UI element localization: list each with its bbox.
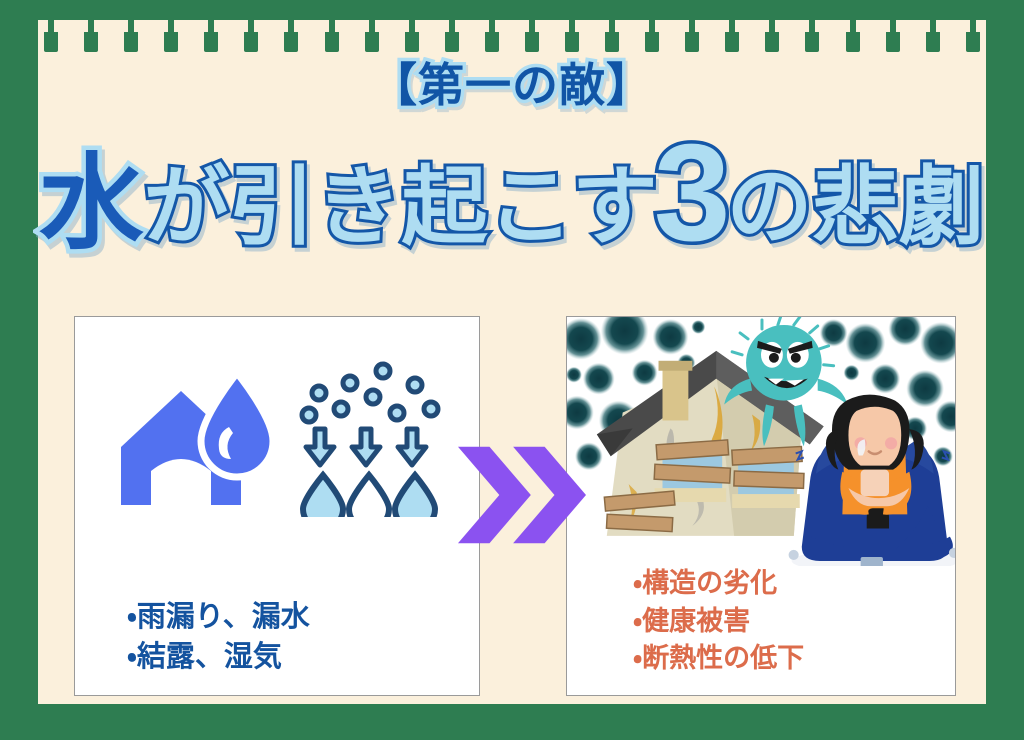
cause-panel: ・雨漏り、漏水 ・結露、湿気 [74,316,480,696]
cause-bullet-list: ・雨漏り、漏水 ・結露、湿気 [75,597,479,677]
poster-canvas: 【第一の敵】 水 が引き起こす 3 の悲劇 [0,0,1024,740]
cause-panel-art [75,317,479,567]
consequence-panel: ・構造の劣化 ・健康被害 ・断熱性の低下 [566,316,956,696]
consequence-bullet-list: ・構造の劣化 ・健康被害 ・断熱性の低下 [567,565,955,677]
consequence-panel-art [567,317,955,567]
chevron-pair [456,442,586,548]
list-item: ・雨漏り、漏水 [127,597,479,637]
condensation-rain-drops-icon [297,357,457,517]
house-with-water-drop-icon [115,365,285,515]
list-item: ・構造の劣化 [633,565,955,602]
list-item: ・健康被害 [633,603,955,640]
list-item: ・結露、湿気 [127,637,479,677]
list-item: ・断熱性の低下 [633,640,955,677]
damaged-moldy-house-illustration [567,317,955,566]
double-chevron-right-icon [456,440,586,550]
